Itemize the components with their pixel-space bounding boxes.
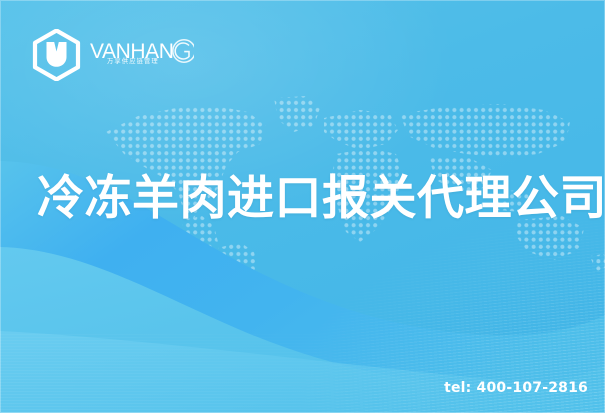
line-texture-bottom-left	[0, 333, 430, 413]
brand-subtitle: 万享供应链管理	[107, 56, 159, 65]
promotional-banner: VANHAN 万享供应链管理 冷冻羊肉进口报关代理公司 tel: 400-107…	[0, 0, 605, 413]
page-title: 冷冻羊肉进口报关代理公司	[37, 172, 605, 226]
hexagon-v-mark-icon	[32, 29, 81, 81]
brand-wordmark: VANHAN 万享供应链管理	[90, 38, 194, 72]
contact-phone[interactable]: tel: 400-107-2816	[444, 380, 588, 396]
brand-logo[interactable]: VANHAN 万享供应链管理	[32, 29, 194, 81]
